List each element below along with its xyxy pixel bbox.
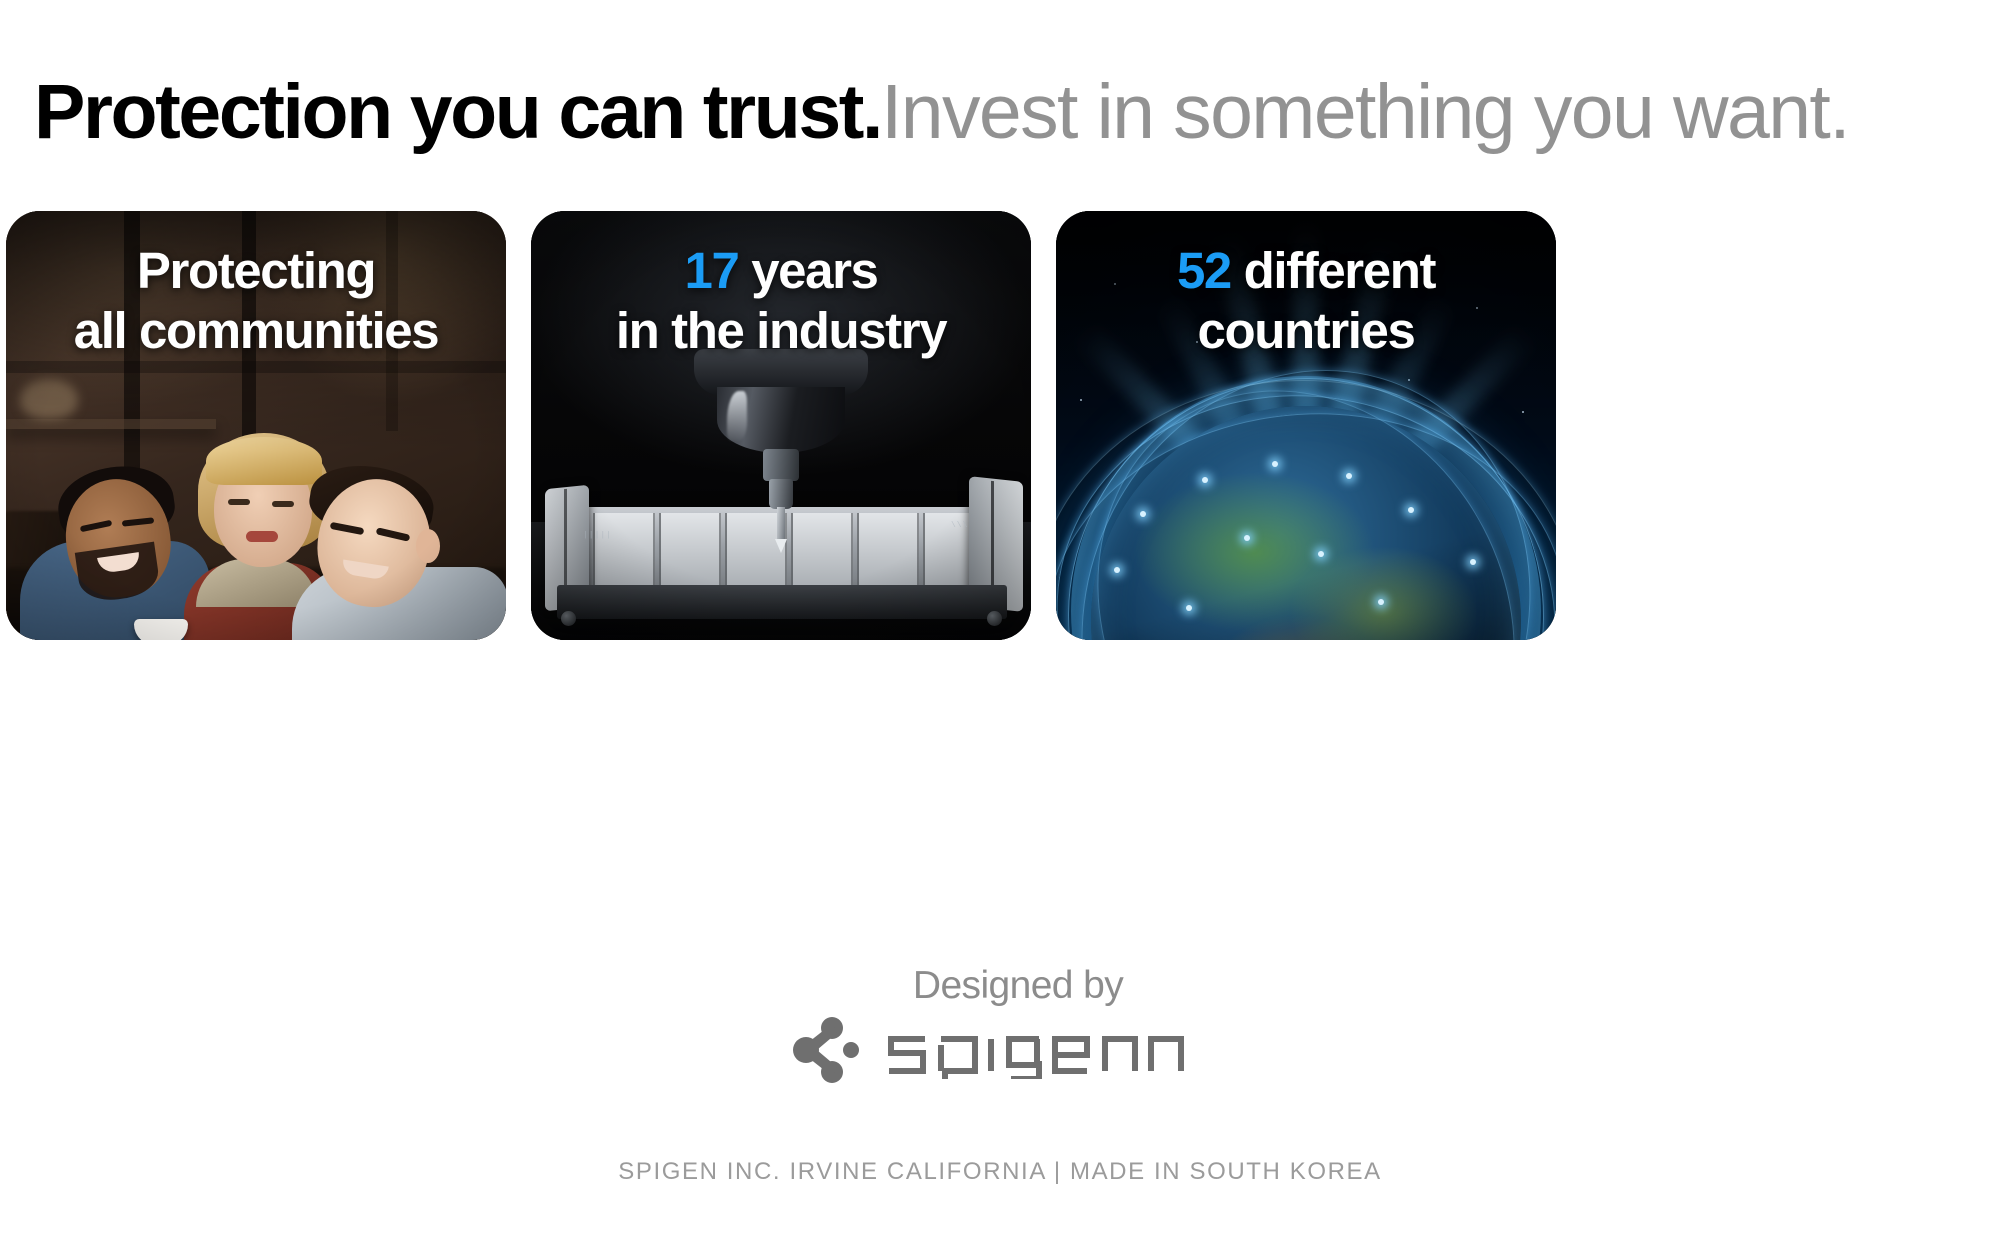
headline-muted: Invest in something you want.	[881, 69, 1849, 155]
card-caption-line2: countries	[1198, 302, 1415, 359]
footer-legal-text: SPIGEN INC. IRVINE CALIFORNIA | MADE IN …	[0, 1158, 2000, 1186]
card-caption: 17 years in the industry	[531, 241, 1031, 361]
card-caption-line2: all communities	[74, 302, 438, 359]
feature-cards-row: Protecting all communities	[6, 211, 1994, 640]
card-protecting-all-communities[interactable]: Protecting all communities	[6, 211, 506, 640]
card-caption-number: 17	[684, 242, 738, 299]
spigen-brand-trust-banner: Protection you can trust.Invest in somet…	[0, 0, 2000, 1237]
card-caption-line1-rest: years	[738, 242, 877, 299]
card-17-years-in-the-industry[interactable]: ||||| \\\ 17 years in the industry	[531, 211, 1031, 640]
card-caption-line1-rest: different	[1231, 242, 1435, 299]
spigen-logo	[791, 1017, 1209, 1083]
spigen-wordmark	[879, 1021, 1209, 1079]
headline-strong: Protection you can trust.	[34, 69, 881, 155]
card-caption-line1: Protecting	[137, 242, 375, 299]
card-52-different-countries[interactable]: 52 different countries	[1056, 211, 1556, 640]
spigen-molecule-logo-mark	[791, 1017, 863, 1083]
card-caption: 52 different countries	[1056, 241, 1556, 361]
card-caption-number: 52	[1177, 242, 1231, 299]
card-caption-line2: in the industry	[616, 302, 946, 359]
designed-by-label: Designed by	[913, 966, 1123, 1005]
card-caption: Protecting all communities	[6, 241, 506, 361]
spigen-logo-block: Designed by	[0, 966, 2000, 1083]
page-title: Protection you can trust.Invest in somet…	[34, 74, 1849, 151]
